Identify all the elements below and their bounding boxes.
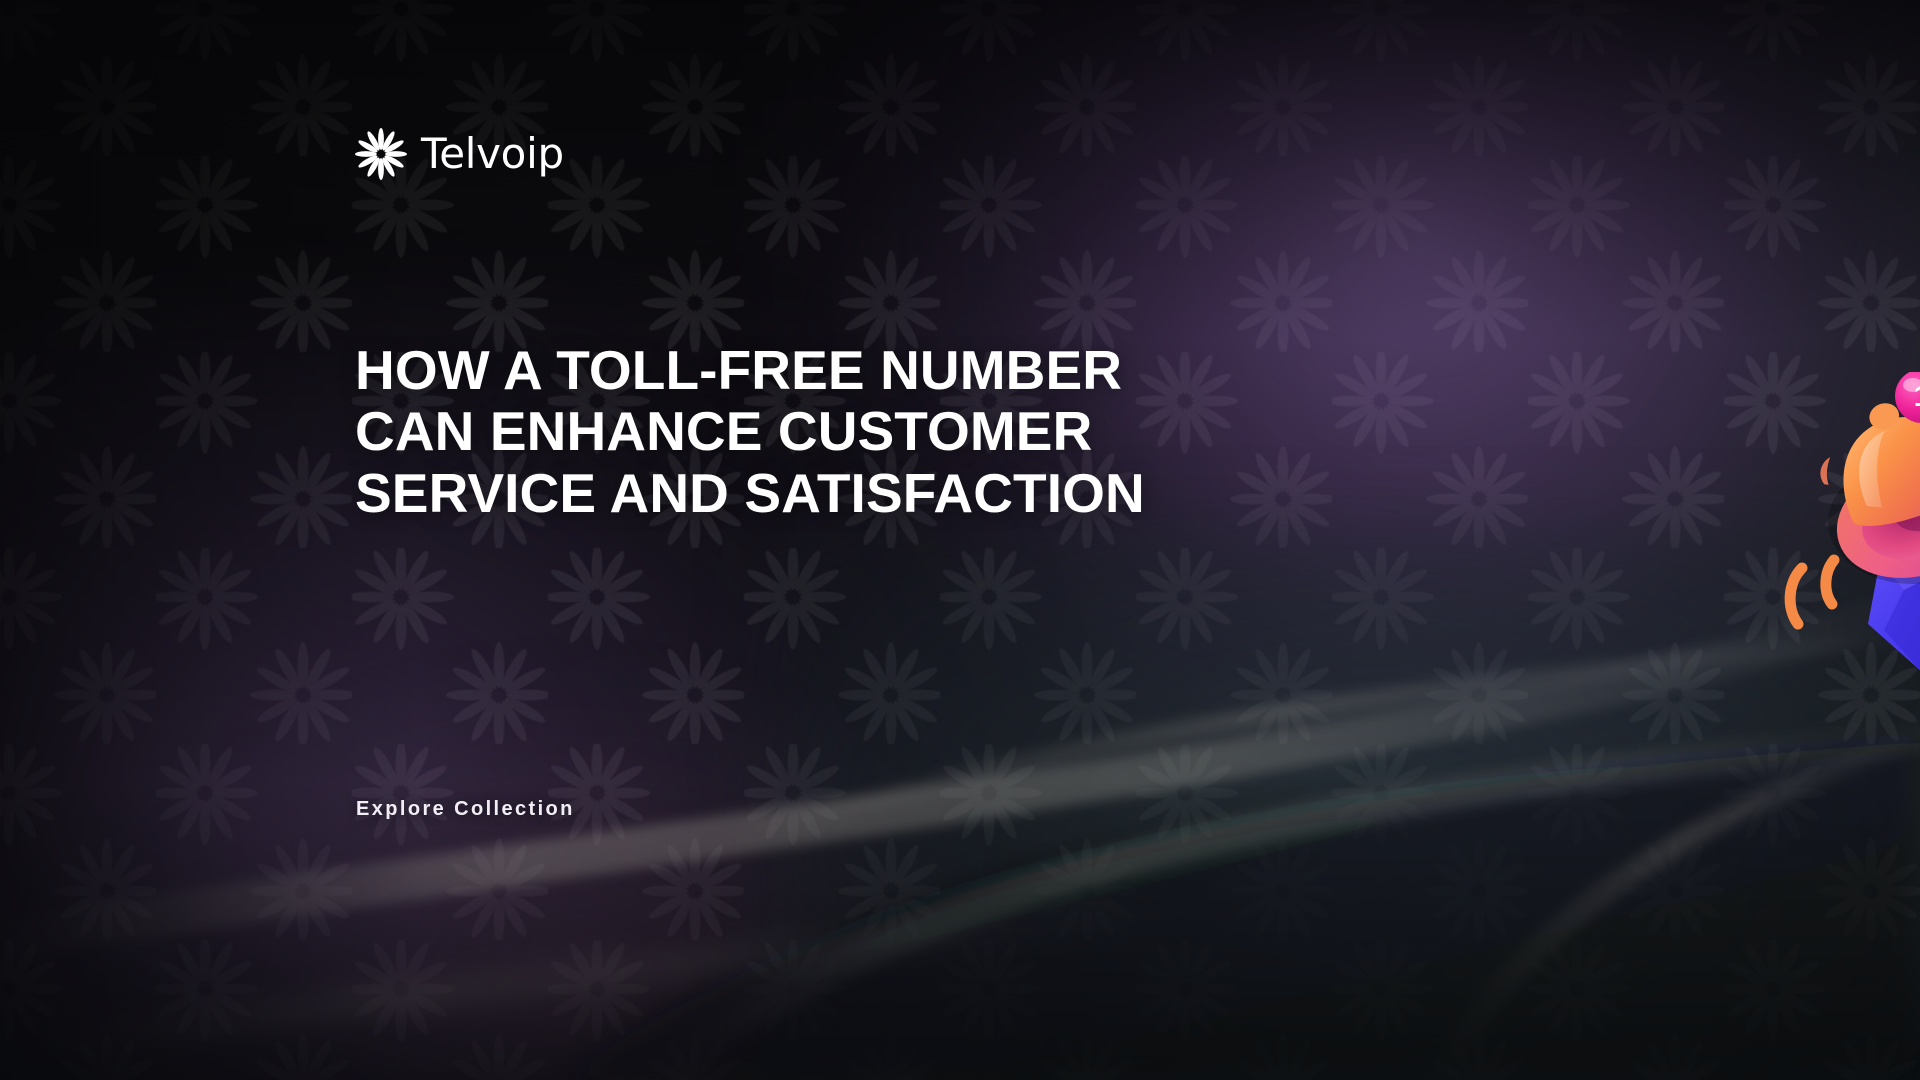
brand-wordmark: Telvoip xyxy=(421,133,564,175)
starburst-flower-icon xyxy=(355,128,407,180)
brand-logo[interactable]: Telvoip xyxy=(355,128,564,180)
explore-collection-link[interactable]: Explore Collection xyxy=(356,798,575,821)
hero-banner: Telvoip How a Toll-Free Number Can Enhan… xyxy=(0,0,1920,1080)
page-title: How a Toll-Free Number Can Enhance Custo… xyxy=(355,340,1185,524)
hero-content: Telvoip How a Toll-Free Number Can Enhan… xyxy=(0,0,1920,1080)
